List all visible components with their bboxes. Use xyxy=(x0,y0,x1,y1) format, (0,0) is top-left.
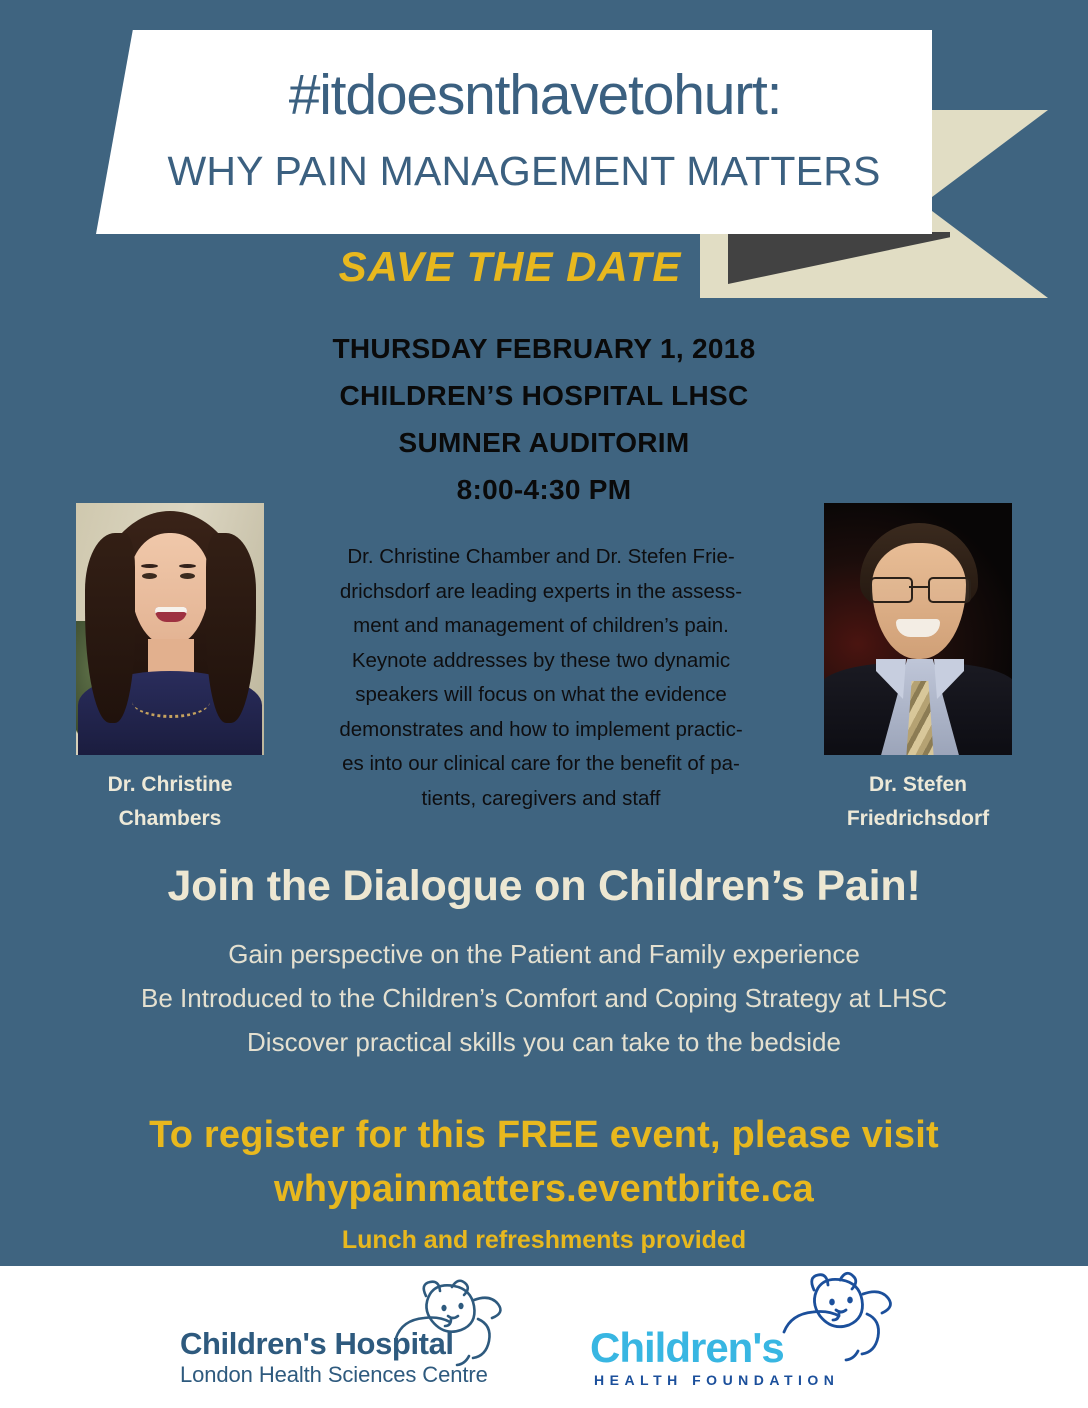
portrait-eye-left xyxy=(142,573,157,579)
foundation-logo-text: Children's HEALTH FOUNDATION xyxy=(580,1324,900,1388)
portrait-brow-left xyxy=(141,564,158,568)
portrait-stefen-friedrichsdorf xyxy=(824,503,1012,755)
childrens-health-foundation-logo: Children's HEALTH FOUNDATION xyxy=(580,1266,900,1408)
join-dialogue-points: Gain perspective on the Patient and Fami… xyxy=(0,932,1088,1064)
blurb-line: Keynote addresses by these two dynamic xyxy=(300,644,782,679)
speaker-name-line2: Chambers xyxy=(76,802,264,836)
portrait-glasses xyxy=(868,577,970,599)
portrait-hair-front-left xyxy=(85,533,135,723)
blurb-line: demonstrates and how to implement practi… xyxy=(300,713,782,748)
lunch-note: Lunch and refreshments provided xyxy=(0,1220,1088,1260)
glasses-bridge xyxy=(909,586,928,588)
glasses-lens-left xyxy=(870,577,913,603)
speaker-name-line1: Dr. Stefen xyxy=(824,768,1012,802)
join-point: Gain perspective on the Patient and Fami… xyxy=(0,932,1088,976)
blurb-line: ment and management of children’s pain. xyxy=(300,609,782,644)
join-point: Be Introduced to the Children’s Comfort … xyxy=(0,976,1088,1020)
portrait-brow-right xyxy=(179,564,196,568)
portrait-smile xyxy=(896,619,940,637)
registration-block: To register for this FREE event, please … xyxy=(0,1108,1088,1260)
speaker-christine-chambers: Dr. Christine Chambers xyxy=(76,503,264,836)
event-details-block: THURSDAY FEBRUARY 1, 2018 CHILDREN’S HOS… xyxy=(0,325,1088,513)
event-room: SUMNER AUDITORIM xyxy=(0,419,1088,466)
speaker-description-paragraph: Dr. Christine Chamber and Dr. Stefen Fri… xyxy=(300,540,782,816)
poster-title-subtitle: WHY PAIN MANAGEMENT MATTERS xyxy=(118,148,930,195)
title-ribbon: #itdoesnthavetohurt: WHY PAIN MANAGEMENT… xyxy=(0,0,1088,310)
hospital-logo-primary: Children's Hospital xyxy=(150,1326,510,1362)
join-point: Discover practical skills you can take t… xyxy=(0,1020,1088,1064)
blurb-line: tients, caregivers and staff xyxy=(300,782,782,817)
speaker-stefen-friedrichsdorf: Dr. Stefen Friedrichsdorf xyxy=(824,503,1012,836)
blurb-line: es into our clinical care for the benefi… xyxy=(300,747,782,782)
event-date: THURSDAY FEBRUARY 1, 2018 xyxy=(0,325,1088,372)
speaker-name-line1: Dr. Christine xyxy=(76,768,264,802)
blurb-line: drichsdorf are leading experts in the as… xyxy=(300,575,782,610)
register-instruction: To register for this FREE event, please … xyxy=(0,1108,1088,1162)
registration-url[interactable]: whypainmatters.eventbrite.ca xyxy=(0,1162,1088,1216)
hospital-logo-secondary: London Health Sciences Centre xyxy=(150,1362,510,1388)
speaker-name-line2: Friedrichsdorf xyxy=(824,802,1012,836)
save-the-date-label: SAVE THE DATE xyxy=(0,243,1020,291)
speaker-caption-christine: Dr. Christine Chambers xyxy=(76,768,264,836)
speaker-caption-stefen: Dr. Stefen Friedrichsdorf xyxy=(824,768,1012,836)
ribbon-banner-shape xyxy=(96,30,932,234)
footer-logo-bar: Children's Hospital London Health Scienc… xyxy=(0,1266,1088,1408)
foundation-logo-primary: Children's xyxy=(580,1324,900,1372)
childrens-hospital-lhsc-logo: Children's Hospital London Health Scienc… xyxy=(150,1266,510,1408)
portrait-smile xyxy=(155,607,187,622)
portrait-eye-right xyxy=(180,573,195,579)
portrait-christine-chambers xyxy=(76,503,264,755)
event-venue: CHILDREN’S HOSPITAL LHSC xyxy=(0,372,1088,419)
portrait-necklace xyxy=(132,685,210,718)
blurb-line: speakers will focus on what the evidence xyxy=(300,678,782,713)
event-poster: #itdoesnthavetohurt: WHY PAIN MANAGEMENT… xyxy=(0,0,1088,1408)
poster-title-hashtag: #itdoesnthavetohurt: xyxy=(140,62,930,128)
hospital-logo-text: Children's Hospital London Health Scienc… xyxy=(150,1326,510,1388)
blurb-line: Dr. Christine Chamber and Dr. Stefen Fri… xyxy=(300,540,782,575)
glasses-lens-right xyxy=(928,577,971,603)
join-dialogue-heading: Join the Dialogue on Children’s Pain! xyxy=(0,862,1088,911)
foundation-logo-secondary: HEALTH FOUNDATION xyxy=(580,1372,900,1388)
